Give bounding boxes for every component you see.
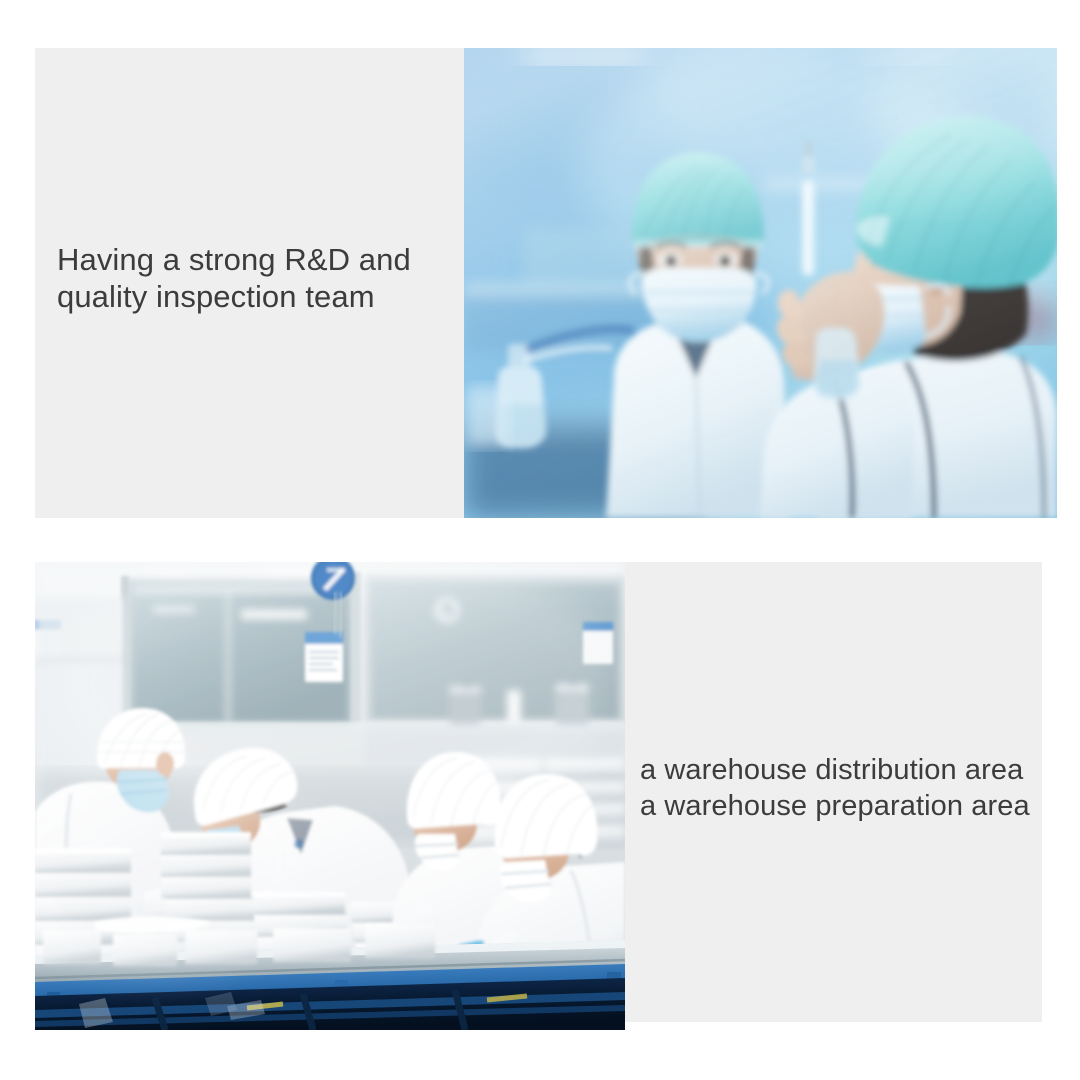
caption-warehouse: a warehouse distribution area a warehous…	[640, 752, 1060, 824]
lab-rd-quality-inspection-photo	[464, 48, 1057, 518]
lab-photo-graphic	[464, 48, 1057, 518]
warehouse-photo-graphic	[35, 562, 625, 1030]
section-rd-quality: Having a strong R&D and quality inspecti…	[35, 48, 1057, 518]
warehouse-packing-area-photo	[35, 562, 625, 1030]
caption-rd-quality: Having a strong R&D and quality inspecti…	[57, 241, 457, 315]
section-warehouse: a warehouse distribution area a warehous…	[35, 562, 1042, 1022]
